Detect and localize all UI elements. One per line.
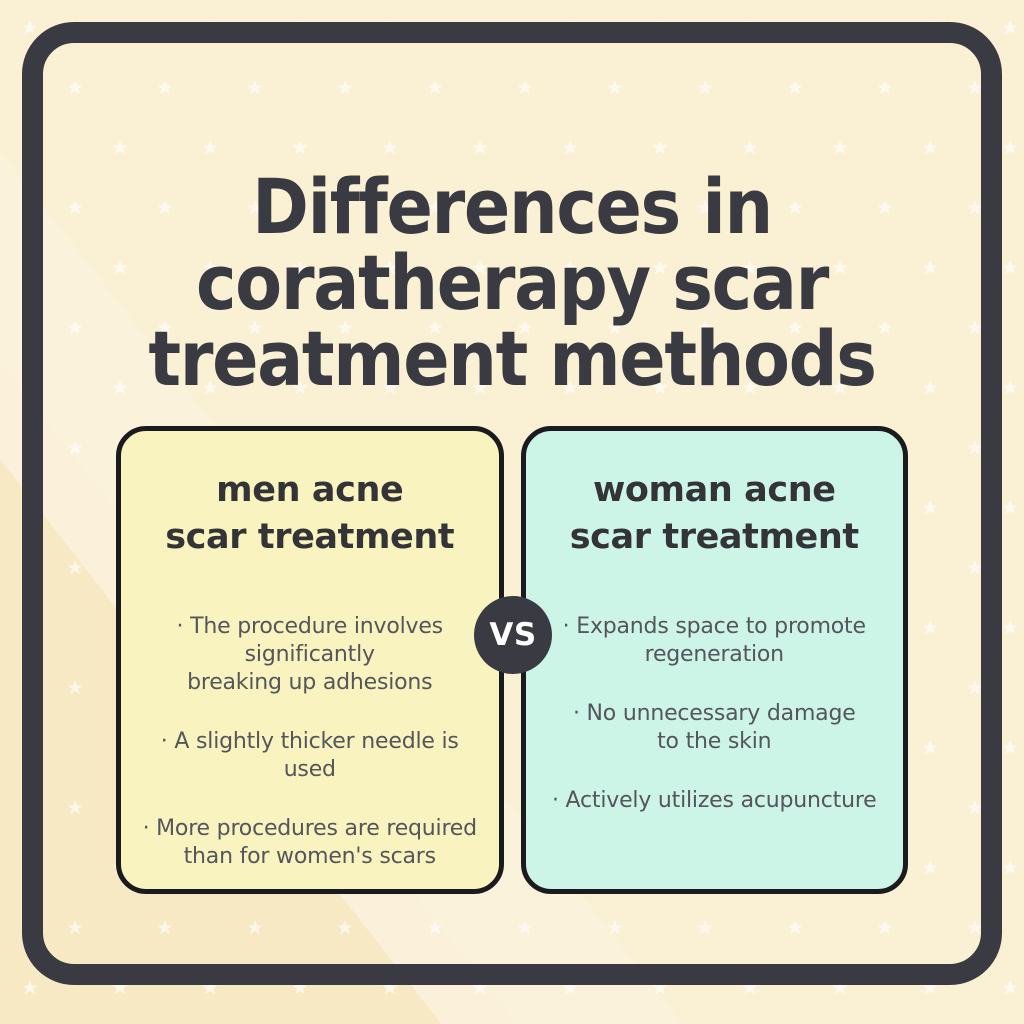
card-heading-men: men acne scar treatment bbox=[139, 467, 481, 561]
bullet-list-woman: · Expands space to promote regeneration … bbox=[544, 613, 886, 815]
list-item: · Expands space to promote regeneration bbox=[544, 613, 886, 669]
infographic-poster: Differences in coratherapy scar treatmen… bbox=[0, 0, 1024, 1024]
list-item: · No unnecessary damage to the skin bbox=[544, 700, 886, 756]
card-men-acne-scar-treatment: men acne scar treatment · The procedure … bbox=[116, 426, 504, 894]
list-item: · More procedures are required than for … bbox=[139, 815, 481, 871]
vs-badge: VS bbox=[474, 596, 552, 674]
card-heading-woman: woman acne scar treatment bbox=[544, 467, 886, 561]
bullet-list-men: · The procedure involves significantly b… bbox=[139, 613, 481, 871]
page-title: Differences in coratherapy scar treatmen… bbox=[107, 169, 917, 397]
card-woman-acne-scar-treatment: woman acne scar treatment · Expands spac… bbox=[521, 426, 909, 894]
list-item: · A slightly thicker needle is used bbox=[139, 728, 481, 784]
list-item: · The procedure involves significantly b… bbox=[139, 613, 481, 697]
list-item: · Actively utilizes acupuncture bbox=[544, 787, 886, 815]
vs-badge-label: VS bbox=[489, 617, 536, 653]
